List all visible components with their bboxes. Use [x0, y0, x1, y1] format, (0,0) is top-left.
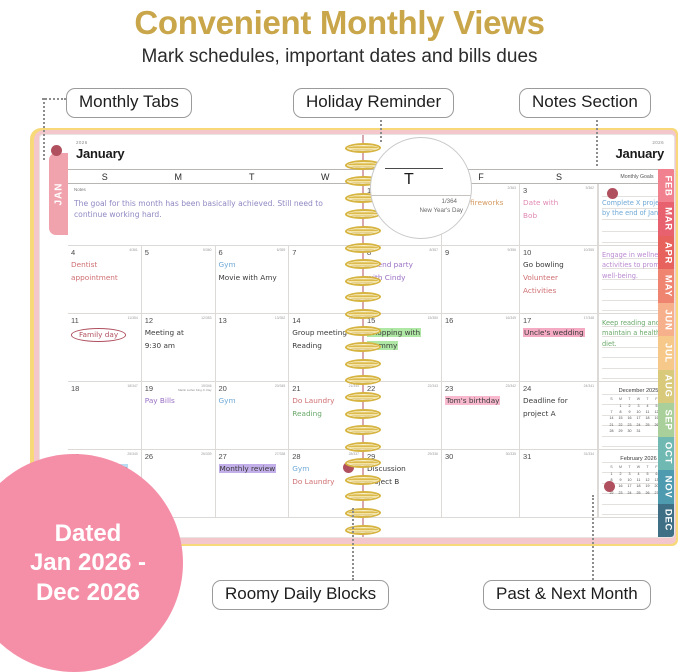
- calendar-day-cell[interactable]: 2727/338Monthly review: [216, 450, 290, 517]
- spiral-ring: [344, 359, 382, 369]
- calendar-day-cell[interactable]: 3131/334: [520, 450, 598, 517]
- month-tab-feb[interactable]: FEB: [658, 169, 675, 202]
- spiral-ring: [344, 292, 382, 302]
- calendar-day-cell[interactable]: 1919/346Martin Luther King Jr. DayPay Bi…: [142, 382, 216, 449]
- callout-monthly-tabs: Monthly Tabs: [66, 88, 192, 118]
- day-number: 3: [523, 186, 594, 195]
- connector-line: [592, 495, 594, 580]
- calendar-event: Pay Bills: [145, 396, 212, 406]
- left-page-header: 2026 January: [68, 135, 362, 169]
- calendar-day-cell[interactable]: 55/360: [142, 246, 216, 313]
- day-of-year: 15/350: [428, 316, 438, 320]
- calendar-week-row: 88/357Attend partywith Cindy99/3561010/3…: [364, 246, 675, 314]
- divider: [371, 195, 472, 196]
- calendar-event: Monthly review: [219, 464, 286, 474]
- badge-line-3: Dec 2026: [30, 578, 146, 607]
- spiral-ring: [344, 259, 382, 269]
- month-tab-label: SEP: [662, 409, 673, 430]
- spiral-ring: [344, 458, 382, 468]
- mini-day: 23: [616, 490, 625, 496]
- magnified-holiday: New Year's Day: [420, 207, 463, 214]
- day-of-year: 10/355: [584, 248, 594, 252]
- day-of-year: 29/336: [428, 452, 438, 456]
- calendar-event: 9:30 am: [145, 341, 212, 351]
- month-tab-label: DEC: [662, 509, 673, 531]
- badge-line-2: Jan 2026 -: [30, 548, 146, 577]
- calendar-day-cell[interactable]: 1717/348Uncle's wedding: [520, 314, 598, 381]
- calendar-event: Go bowling: [523, 260, 594, 270]
- calendar-day-cell[interactable]: 33/362Date withBob: [520, 184, 598, 245]
- calendar-event: Movie with Amy: [219, 273, 286, 283]
- day-of-year: 20/345: [275, 384, 285, 388]
- spiral-ring: [344, 276, 382, 286]
- calendar-day-cell[interactable]: 1616/349: [442, 314, 520, 381]
- calendar-event: project A: [523, 409, 594, 419]
- month-tab-mar[interactable]: MAR: [658, 202, 675, 235]
- mini-day: 30: [625, 428, 634, 434]
- dow-cell: S: [520, 170, 598, 183]
- month-tab-nov[interactable]: NOV: [658, 470, 675, 503]
- calendar-week-row: 2929/336DiscussionProject B3030/3353131/…: [364, 450, 675, 518]
- month-tab-jul[interactable]: JUL: [658, 336, 675, 369]
- calendar-event: Date with: [523, 198, 594, 208]
- month-tab-label: JUL: [662, 343, 673, 363]
- spiral-ring: [344, 475, 382, 485]
- month-tab-label: JUN: [662, 309, 673, 330]
- spiral-ring: [344, 375, 382, 385]
- calendar-event: Dentist: [71, 260, 138, 270]
- connector-line: [596, 112, 598, 166]
- day-of-year: 25/340: [127, 452, 137, 456]
- month-tab-jun[interactable]: JUN: [658, 303, 675, 336]
- month-tab-label: APR: [662, 242, 673, 264]
- calendar-event: Tom's birthday: [445, 396, 516, 406]
- dow-cell: T: [215, 170, 289, 183]
- notes-label: Notes: [74, 187, 356, 192]
- month-tab-sep[interactable]: SEP: [658, 403, 675, 436]
- callout-holiday-reminder: Holiday Reminder: [293, 88, 454, 118]
- calendar-day-cell[interactable]: 1111/354Family day: [68, 314, 142, 381]
- calendar-week-row: 44/361Dentistappointment55/36066/359GymM…: [68, 246, 362, 314]
- calendar-week-row: 1111/354Family day1212/353Meeting at9:30…: [68, 314, 362, 382]
- spiral-ring: [344, 326, 382, 336]
- dow-cell: S: [68, 170, 142, 183]
- month-tab-label: MAY: [662, 275, 673, 297]
- calendar-day-cell[interactable]: 2323/342Tom's birthday: [442, 382, 520, 449]
- mini-day: 28: [607, 428, 616, 434]
- month-tab-label: AUG: [662, 375, 673, 398]
- notes-text: The goal for this month has been basical…: [74, 198, 356, 221]
- calendar-day-cell[interactable]: 1212/353Meeting at9:30 am: [142, 314, 216, 381]
- mini-day: 24: [625, 490, 634, 496]
- mini-day: 29: [616, 428, 625, 434]
- month-tab-label: NOV: [662, 475, 673, 498]
- mini-day: 25: [634, 490, 643, 496]
- calendar-event: Volunteer: [523, 273, 594, 283]
- calendar-event: Gym: [219, 260, 286, 270]
- spiral-ring: [344, 226, 382, 236]
- day-of-year: 12/353: [201, 316, 211, 320]
- calendar-event: Uncle's wedding: [523, 328, 594, 338]
- month-tab-rail[interactable]: FEBMARAPRMAYJUNJULAUGSEPOCTNOVDEC: [658, 169, 675, 537]
- day-number: 9: [445, 248, 516, 257]
- calendar-event-text: Monthly review: [219, 464, 277, 473]
- badge-line-1: Dated: [30, 519, 146, 548]
- day-number: 6: [219, 248, 286, 257]
- day-number: 4: [71, 248, 138, 257]
- day-of-year: 18/347: [127, 384, 137, 388]
- spiral-ring: [344, 143, 382, 153]
- marker-dot: [604, 481, 615, 492]
- day-of-year: 26/339: [201, 452, 211, 456]
- connector-line: [352, 508, 354, 580]
- day-of-year: 11/354: [128, 316, 138, 320]
- day-of-year: 8/357: [430, 248, 439, 252]
- marker-dot: [607, 188, 618, 199]
- day-of-year: 23/342: [506, 384, 516, 388]
- day-of-year: 17/348: [584, 316, 594, 320]
- calendar-event: Family day: [71, 328, 138, 342]
- calendar-event: Bob: [523, 211, 594, 221]
- day-of-year: 16/349: [506, 316, 516, 320]
- calendar-event: Gym: [219, 396, 286, 406]
- calendar-day-cell[interactable]: 99/356: [442, 246, 520, 313]
- calendar-day-cell[interactable]: 1818/347: [68, 382, 142, 449]
- spiral-ring: [344, 491, 382, 501]
- callout-roomy-daily-blocks: Roomy Daily Blocks: [212, 580, 389, 610]
- notes-row: NotesThe goal for this month has been ba…: [68, 184, 362, 246]
- magnified-dow: T: [404, 171, 414, 189]
- calendar-week-row: 1818/3471919/346Martin Luther King Jr. D…: [68, 382, 362, 450]
- month-tab-label: JAN: [53, 182, 64, 205]
- month-tab-dec[interactable]: DEC: [658, 504, 675, 537]
- spiral-ring: [344, 309, 382, 319]
- divider: [385, 168, 443, 169]
- callout-notes-section: Notes Section: [519, 88, 651, 118]
- day-of-year: 4/361: [129, 248, 138, 252]
- spiral-ring: [344, 525, 382, 535]
- calendar-day-cell[interactable]: 44/361Dentistappointment: [68, 246, 142, 313]
- day-number: 5: [145, 248, 212, 257]
- month-tab-aug[interactable]: AUG: [658, 370, 675, 403]
- month-label-right: January: [616, 146, 664, 161]
- spiral-ring: [344, 243, 382, 253]
- month-tab-apr[interactable]: APR: [658, 236, 675, 269]
- day-of-year: 13/352: [275, 316, 285, 320]
- calendar-event: Deadline for: [523, 396, 594, 406]
- month-tab-label: FEB: [662, 175, 673, 196]
- spiral-ring: [344, 342, 382, 352]
- day-of-year: 2/363: [508, 186, 517, 190]
- spiral-ring: [344, 409, 382, 419]
- magnified-doy: 1/364: [442, 198, 457, 205]
- day-of-year: 31/334: [584, 452, 594, 456]
- day-of-year: 5/360: [203, 248, 212, 252]
- notes-section[interactable]: NotesThe goal for this month has been ba…: [68, 184, 362, 245]
- day-of-year: 30/335: [506, 452, 516, 456]
- day-of-year: 24/341: [584, 384, 594, 388]
- mini-day: 26: [643, 490, 652, 496]
- month-tab-may[interactable]: MAY: [658, 269, 675, 302]
- mini-day: 31: [634, 428, 643, 434]
- spiral-ring: [344, 425, 382, 435]
- dow-header-left: S M T W: [68, 169, 362, 184]
- calendar-week-row: 1515/350Shopping withMommy1616/3491717/3…: [364, 314, 675, 382]
- month-tab-jan[interactable]: JAN: [49, 153, 68, 235]
- dow-cell: M: [142, 170, 216, 183]
- connector-line: [43, 98, 45, 160]
- month-label-left: January: [76, 146, 124, 161]
- month-tab-label: OCT: [662, 442, 673, 464]
- marker-dot: [51, 145, 62, 156]
- calendar-event-text: Tom's birthday: [445, 396, 500, 405]
- month-tab-oct[interactable]: OCT: [658, 437, 675, 470]
- calendar-day-cell[interactable]: 2424/341Deadline forproject A: [520, 382, 598, 449]
- holiday-reminder-magnifier: T 1/364 New Year's Day: [370, 137, 472, 239]
- calendar-event-text: Uncle's wedding: [523, 328, 585, 337]
- day-of-year: 27/338: [275, 452, 285, 456]
- calendar-day-cell[interactable]: 1313/352: [216, 314, 290, 381]
- calendar-event: Meeting at: [145, 328, 212, 338]
- day-of-year: 6/359: [277, 248, 286, 252]
- calendar-event: Activities: [523, 286, 594, 296]
- day-of-year: 9/356: [508, 248, 517, 252]
- connector-line: [42, 98, 66, 100]
- calendar-day-cell[interactable]: 3030/335: [442, 450, 520, 517]
- callout-past-next-month: Past & Next Month: [483, 580, 651, 610]
- spiral-ring: [344, 508, 382, 518]
- calendar-week-row: 2222/3432323/342Tom's birthday2424/341De…: [364, 382, 675, 450]
- page-title: Convenient Monthly Views: [0, 0, 679, 42]
- calendar-event: appointment: [71, 273, 138, 283]
- calendar-day-cell[interactable]: 2020/345Gym: [216, 382, 290, 449]
- spiral-ring: [344, 442, 382, 452]
- day-of-year: 3/362: [586, 186, 595, 190]
- year-label: 2026: [76, 140, 356, 145]
- spiral-ring: [344, 392, 382, 402]
- calendar-day-cell[interactable]: 66/359GymMovie with Amy: [216, 246, 290, 313]
- holiday-label: Martin Luther King Jr. Day: [154, 388, 212, 392]
- calendar-day-cell[interactable]: 1010/355Go bowlingVolunteerActivities: [520, 246, 598, 313]
- mini-day: [643, 428, 652, 434]
- page-subtitle: Mark schedules, important dates and bill…: [0, 46, 679, 68]
- month-tab-label: MAR: [662, 207, 673, 231]
- calendar-event-text: Family day: [71, 328, 126, 342]
- day-of-year: 22/343: [428, 384, 438, 388]
